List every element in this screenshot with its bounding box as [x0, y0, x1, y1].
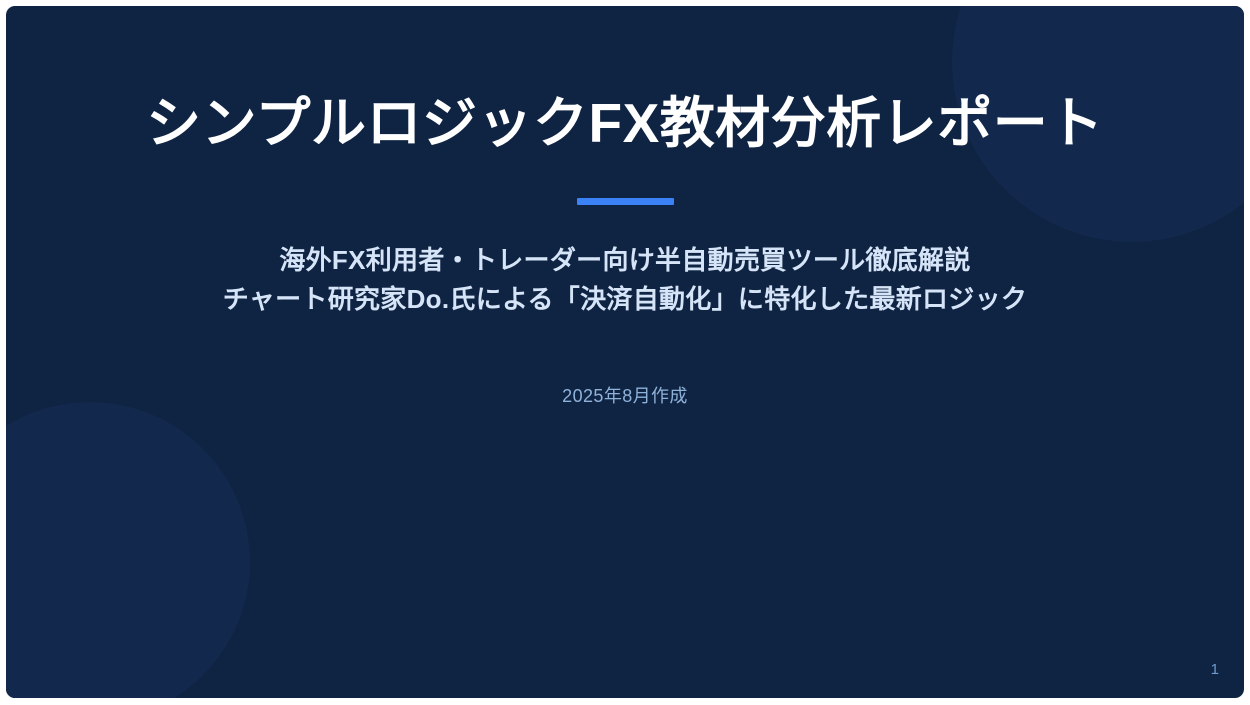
accent-divider	[577, 198, 674, 205]
slide-title: シンプルロジックFX教材分析レポート	[146, 91, 1104, 156]
title-slide: シンプルロジックFX教材分析レポート 海外FX利用者・トレーダー向け半自動売買ツ…	[6, 6, 1244, 698]
subtitle-block: 海外FX利用者・トレーダー向け半自動売買ツール徹底解説 チャート研究家Do.氏に…	[223, 241, 1027, 320]
slide-content: シンプルロジックFX教材分析レポート 海外FX利用者・トレーダー向け半自動売買ツ…	[6, 6, 1244, 698]
creation-date: 2025年8月作成	[562, 382, 688, 408]
subtitle-line-2: チャート研究家Do.氏による「決済自動化」に特化した最新ロジック	[223, 280, 1027, 320]
slide-root: シンプルロジックFX教材分析レポート 海外FX利用者・トレーダー向け半自動売買ツ…	[0, 0, 1250, 705]
subtitle-line-1: 海外FX利用者・トレーダー向け半自動売買ツール徹底解説	[223, 241, 1027, 281]
page-number: 1	[1211, 661, 1219, 678]
